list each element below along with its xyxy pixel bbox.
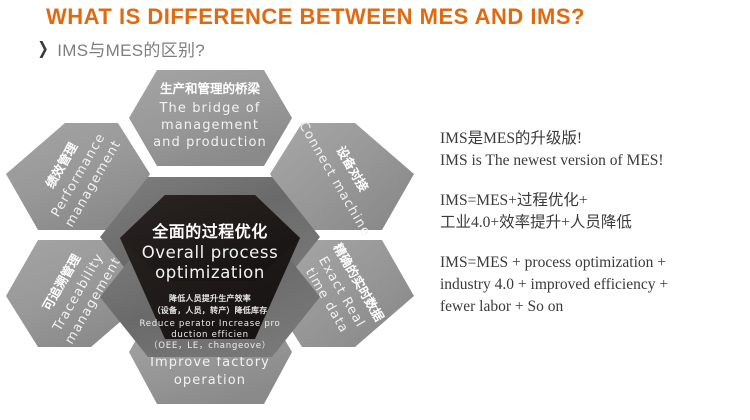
hex-petal-top-en-3: and production <box>153 135 267 150</box>
note-gap <box>440 172 740 190</box>
note-line: IMS是MES的升级版! <box>440 128 740 150</box>
notes-panel: IMS是MES的升级版! IMS is The newest version o… <box>440 128 740 318</box>
note-gap <box>440 234 740 252</box>
page-title: WHAT IS DIFFERENCE BETWEEN MES AND IMS? <box>46 4 585 30</box>
hex-center-sub-cn-2: （设备，人员，转产）降低库存 <box>153 305 268 315</box>
hex-center-en-title-1: Overall process <box>142 243 279 262</box>
hex-petal-bottom-en-1: Improve factory <box>150 355 270 370</box>
hex-center-sub-en-1: Reduce perator Increase pro <box>139 319 280 329</box>
note-line: IMS is The newest version of MES! <box>440 150 740 172</box>
hex-petal-top[interactable]: 生产和管理的桥梁 The bridge of management and pr… <box>129 70 292 166</box>
hex-center-sub-en-2: duction efficien <box>171 330 249 340</box>
hex-center-en-title-2: optimization <box>155 263 265 282</box>
hex-center-cn-title: 全面的过程优化 <box>151 222 268 241</box>
note-line: 工业4.0+效率提升+人员降低 <box>440 212 740 234</box>
hex-center-sub-en-3: （OEE，LE，changeove） <box>149 340 271 351</box>
hex-petal-top-en-1: The bridge of <box>159 101 261 116</box>
note-line: fewer labor + So on <box>440 296 740 318</box>
slide-canvas: WHAT IS DIFFERENCE BETWEEN MES AND IMS? … <box>0 0 750 420</box>
hex-center[interactable]: 全面的过程优化 Overall process optimization 降低人… <box>99 177 321 357</box>
note-line: industry 4.0 + improved efficiency + <box>440 274 740 296</box>
note-line: IMS=MES + process optimization + <box>440 252 740 274</box>
hex-petal-top-cn: 生产和管理的桥梁 <box>160 81 261 96</box>
hexagon-diagram: 生产和管理的桥梁 The bridge of management and pr… <box>0 55 420 420</box>
hex-center-sub-cn-1: 降低人员提升生产效率 <box>169 293 251 303</box>
hex-petal-bottom-en-2: operation <box>174 373 246 388</box>
note-line: IMS=MES+过程优化+ <box>440 190 740 212</box>
hex-petal-top-en-2: management <box>161 118 259 133</box>
